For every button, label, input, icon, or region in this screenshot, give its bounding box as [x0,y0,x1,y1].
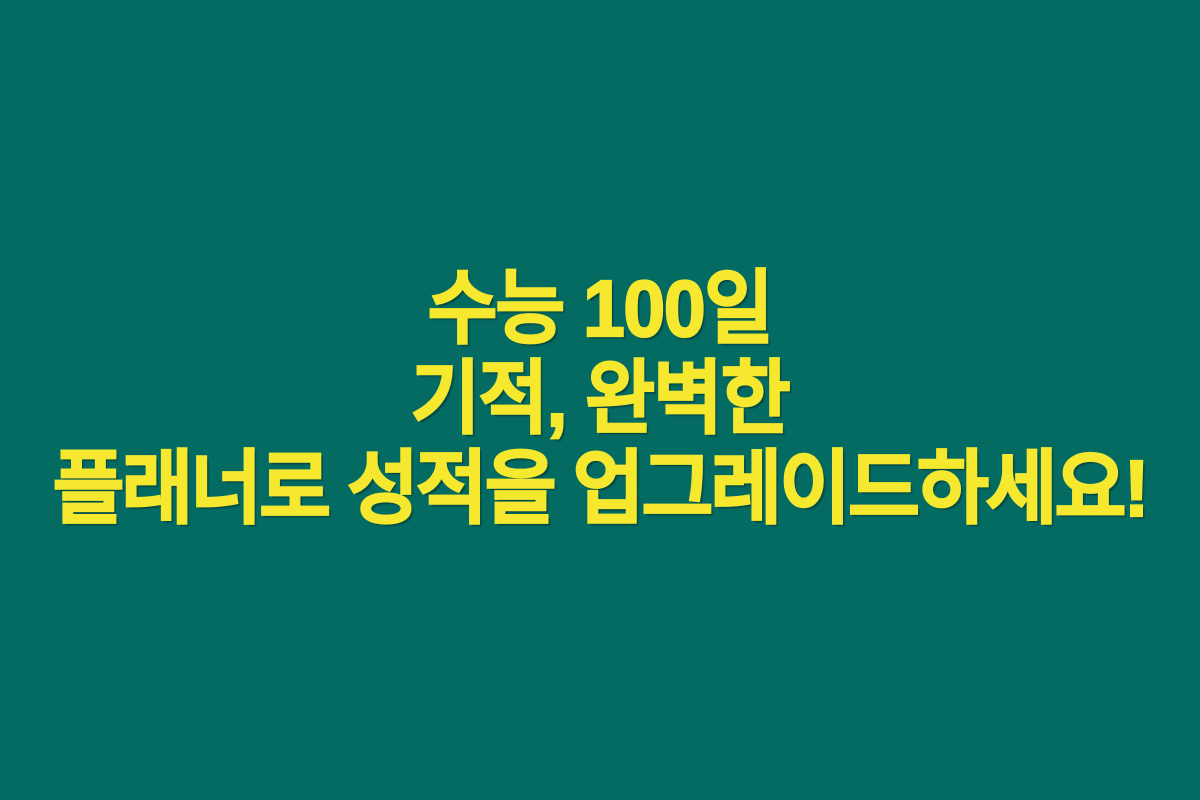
headline-block: 수능 100일 기적, 완벽한 플래너로 성적을 업그레이드하세요! [35,264,1165,534]
headline-line-3: 플래너로 성적을 업그레이드하세요! [53,444,1147,534]
promo-banner: 수능 100일 기적, 완벽한 플래너로 성적을 업그레이드하세요! [0,0,1200,800]
headline-line-1: 수능 100일 [428,264,772,354]
headline-line-2: 기적, 완벽한 [411,354,789,444]
